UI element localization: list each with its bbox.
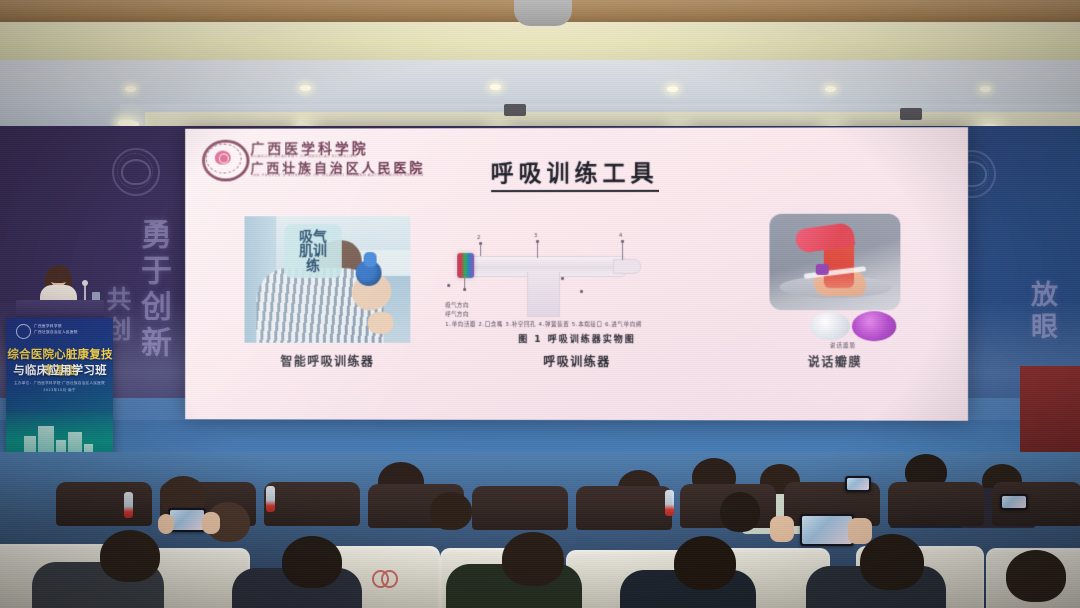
hand — [158, 514, 174, 534]
phone-screen[interactable] — [800, 514, 854, 546]
seat-back — [576, 486, 672, 530]
backdrop-slogan-right-1: 放眼 — [1022, 280, 1061, 344]
diagram-color-rings — [457, 253, 474, 278]
audience-head — [720, 492, 760, 532]
presentation-slide: 广西医学科学院 GUANGXI ACADEMY OF MEDICAL SCIEN… — [185, 127, 968, 421]
ceiling-spotlight — [300, 85, 311, 91]
callout-dot — [447, 284, 449, 286]
ceiling-spotlight — [980, 86, 991, 92]
panel-caption-3: 说话瓣膜 — [769, 353, 900, 370]
callout-dot — [463, 288, 465, 290]
callout-dot — [561, 277, 563, 279]
badge-line-2: 肌训 — [299, 244, 327, 258]
banner-subtitle: 主办单位：广西医学科学院·广西壮族自治区人民医院 2023年10月·南宁 — [6, 380, 113, 394]
ceiling-spotlight — [490, 84, 501, 90]
audience-area — [0, 452, 1080, 608]
audience-head — [674, 536, 736, 590]
presentation-scene: 勇于创新 共创 放眼 广西医学科学院 GUANGXI ACADEMY OF ME… — [0, 0, 1080, 608]
callout-number: 4 — [619, 233, 622, 239]
audience-head — [100, 530, 160, 582]
banner-logo-icon — [16, 324, 31, 339]
panel-caption-1: 智能呼吸训练器 — [245, 353, 411, 370]
speaking-valve-pair: 说话瓣膜 — [810, 310, 903, 342]
diagram-legend: 吸气方向 呼气方向 — [445, 302, 469, 319]
callout-number: 3 — [534, 233, 537, 239]
projector-icon — [514, 0, 572, 26]
valve-purple-icon — [852, 311, 896, 341]
ceiling-spotlight — [667, 86, 678, 92]
banner-org-lines: 广西医学科学院 广西壮族自治区人民医院 — [34, 323, 78, 335]
seat-back — [888, 482, 984, 526]
seat-back — [56, 482, 152, 526]
valve-label: 说话瓣膜 — [830, 341, 923, 349]
badge-line-1: 吸气 — [299, 230, 327, 244]
panel-caption-2: 呼吸训练器 — [441, 353, 713, 370]
ceiling-vent — [504, 104, 526, 116]
callout-leader — [537, 242, 538, 258]
diagram-tube-neck — [527, 272, 560, 317]
hand — [848, 518, 872, 544]
legend-line-1: 吸气方向 — [445, 302, 469, 311]
seat-back — [472, 486, 568, 530]
seat-logo-icon — [372, 570, 398, 586]
panel-photo-patient: 吸气 肌训 练 — [245, 216, 411, 343]
audience-head — [430, 492, 472, 530]
projection-screen: 广西医学科学院 GUANGXI ACADEMY OF MEDICAL SCIEN… — [185, 127, 968, 421]
callout-leader — [480, 244, 481, 256]
panel-device-diagram: 2 3 4 吸气方向 呼气方向 1.单向活瓣 2.口含嘴 3.补空回孔 4.弹簧… — [441, 220, 713, 346]
audience-head — [860, 534, 924, 590]
banner-title-line-2: 与临床应用学习班 — [6, 362, 113, 378]
backdrop-slogan-left-1: 勇于创新 — [131, 218, 176, 362]
water-bottle — [266, 486, 275, 512]
hand — [770, 516, 794, 542]
slide-title: 呼吸训练工具 — [185, 153, 968, 188]
callout-dot — [580, 290, 583, 293]
hand — [202, 512, 220, 534]
badge-line-3: 练 — [306, 259, 320, 273]
valve-clear-icon — [810, 312, 850, 340]
water-bottle — [665, 490, 674, 516]
phone-screen[interactable] — [845, 476, 871, 492]
audience-head — [282, 536, 342, 588]
diagram-mouthpiece — [613, 259, 641, 274]
podium-right — [1020, 366, 1080, 464]
callout-number: 2 — [477, 235, 480, 241]
slide-title-text: 呼吸训练工具 — [491, 161, 659, 192]
phone-screen[interactable] — [1000, 494, 1028, 510]
ceiling-vent — [900, 108, 922, 120]
ceiling-spotlight — [125, 86, 136, 92]
legend-line-2: 呼气方向 — [445, 310, 469, 319]
diagram-parts-list: 1.单向活瓣 2.口含嘴 3.补空回孔 4.弹簧装置 5.本端接口 6.进气单向… — [445, 320, 642, 328]
callout-leader — [464, 276, 465, 288]
seat-back — [264, 482, 360, 526]
callout-leader — [622, 242, 623, 260]
audience-head — [1006, 550, 1066, 602]
photo-overlay-badge: 吸气 肌训 练 — [284, 224, 342, 278]
banner-subtitle-line-2: 2023年10月·南宁 — [6, 387, 113, 394]
audience-head — [502, 532, 564, 586]
ceiling-spotlight — [825, 86, 836, 92]
diagram-figure-caption: 图 1 呼吸训练器实物图 — [441, 332, 713, 345]
panel-airway-illustration — [769, 214, 900, 310]
banner-subtitle-line-1: 主办单位：广西医学科学院·广西壮族自治区人民医院 — [6, 380, 113, 387]
water-bottle — [124, 492, 133, 518]
backdrop-logo-left-icon — [112, 148, 160, 196]
banner-org-line-2: 广西壮族自治区人民医院 — [34, 329, 78, 335]
ceiling-cove-light — [0, 22, 1080, 64]
